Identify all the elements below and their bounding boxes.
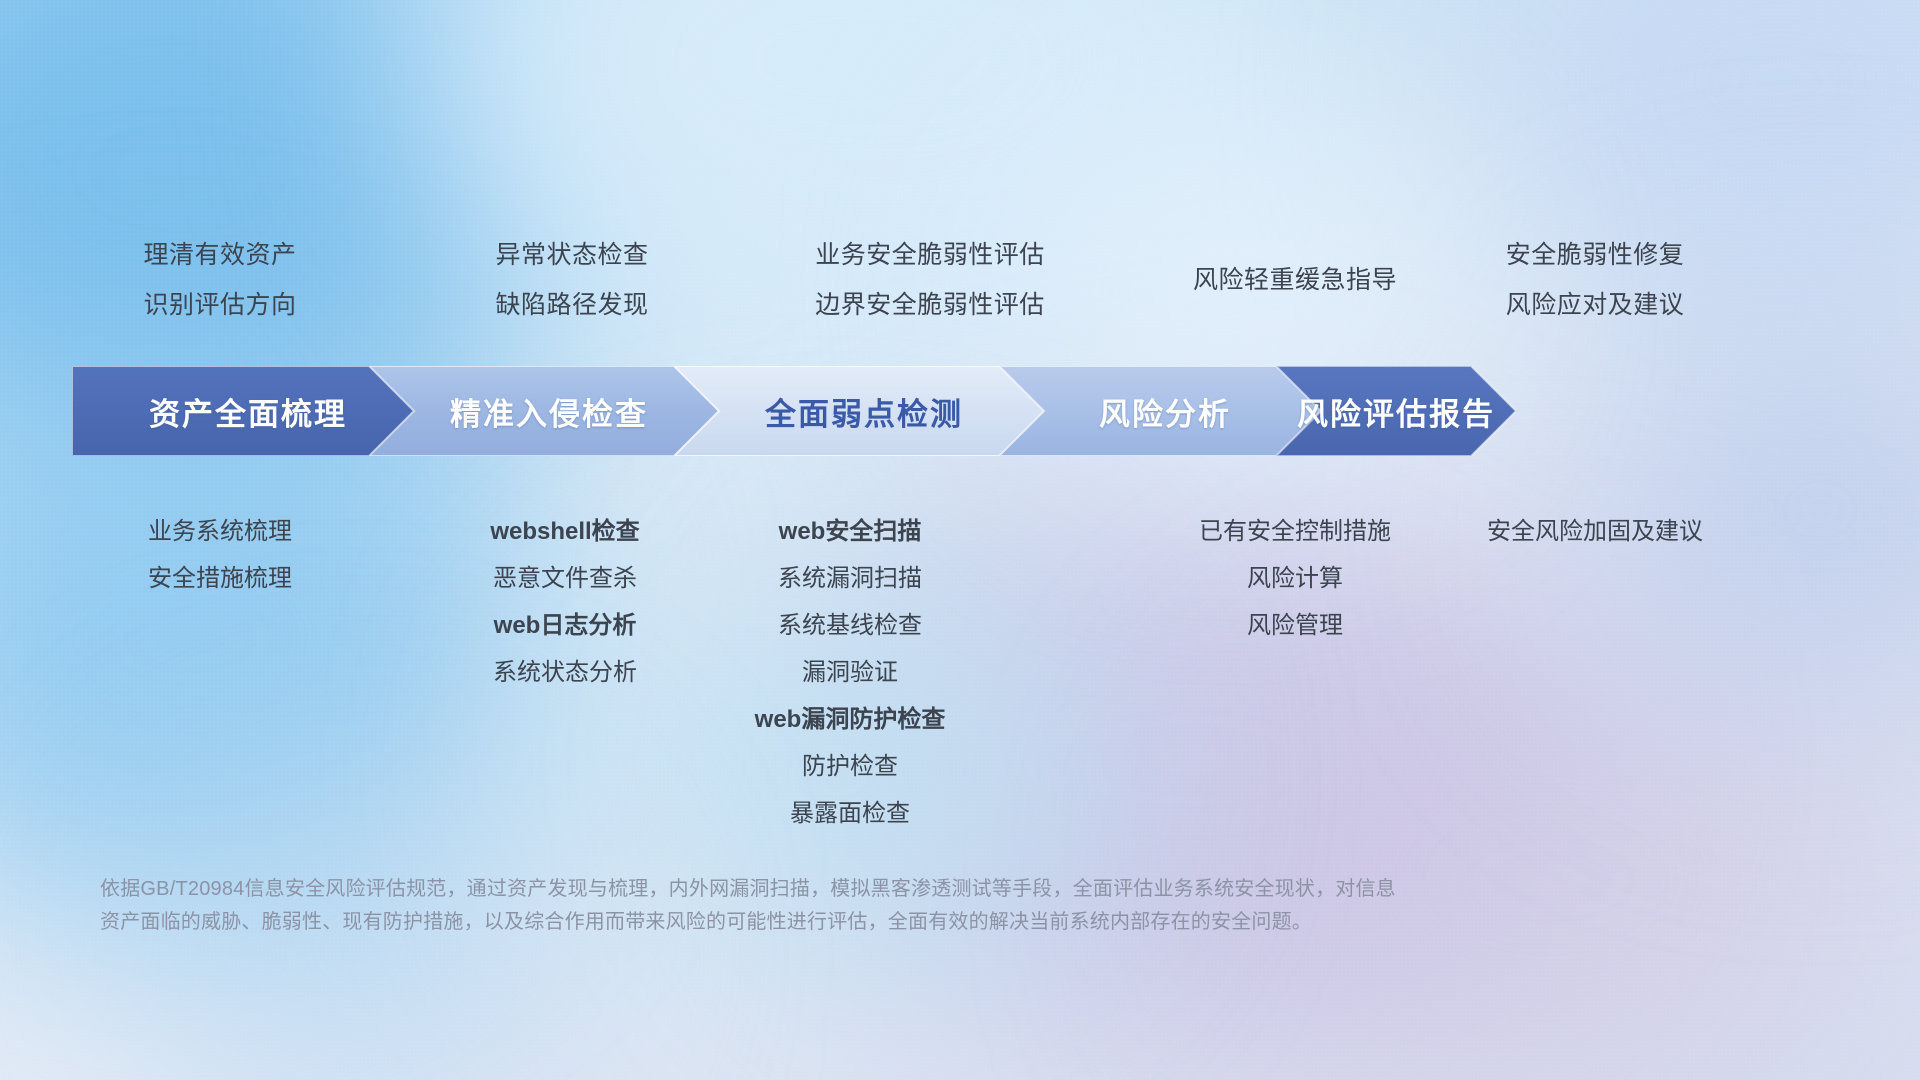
- list-item: 暴露面检查: [640, 790, 1060, 837]
- list-item: 业务系统梳理: [65, 508, 375, 555]
- list-item: 风险管理: [1120, 602, 1470, 649]
- top-caption-item: 缺陷路径发现: [412, 280, 732, 330]
- top-caption-item: 识别评估方向: [60, 280, 380, 330]
- step-bottom-list-weakness-detection: web安全扫描 系统漏洞扫描 系统基线检查 漏洞验证 web漏洞防护检查 防护检…: [640, 508, 1060, 837]
- list-item: web漏洞防护检查: [640, 696, 1060, 743]
- process-step-weakness-detection[interactable]: 全面弱点检测: [674, 366, 1054, 456]
- process-step-label: 全面弱点检测: [765, 389, 963, 434]
- top-caption-item: 安全脆弱性修复: [1395, 230, 1795, 280]
- list-item: 风险计算: [1120, 555, 1470, 602]
- step-bottom-list-risk-report: 安全风险加固及建议: [1375, 508, 1815, 555]
- list-item: 安全风险加固及建议: [1375, 508, 1815, 555]
- top-caption-item: 业务安全脆弱性评估: [740, 230, 1120, 280]
- process-step-label: 资产全面梳理: [149, 389, 347, 434]
- step-top-captions-risk-report: 安全脆弱性修复 风险应对及建议: [1395, 230, 1795, 330]
- step-top-captions-weakness-detection: 业务安全脆弱性评估 边界安全脆弱性评估: [740, 230, 1120, 330]
- list-item: 漏洞验证: [640, 649, 1060, 696]
- list-item: 安全措施梳理: [65, 555, 375, 602]
- process-diagram: 理清有效资产 识别评估方向 异常状态检查 缺陷路径发现 业务安全脆弱性评估 边界…: [0, 0, 1920, 1080]
- process-step-risk-report[interactable]: 风险评估报告: [1276, 366, 1516, 456]
- step-bottom-list-asset-inventory: 业务系统梳理 安全措施梳理: [65, 508, 375, 602]
- process-step-label: 风险评估报告: [1297, 389, 1495, 434]
- list-item: web安全扫描: [640, 508, 1060, 555]
- process-step-label: 风险分析: [1099, 389, 1231, 434]
- top-caption-item: 边界安全脆弱性评估: [740, 280, 1120, 330]
- top-caption-item: 风险应对及建议: [1395, 280, 1795, 330]
- step-top-captions-asset-inventory: 理清有效资产 识别评估方向: [60, 230, 380, 330]
- step-top-captions-intrusion-check: 异常状态检查 缺陷路径发现: [412, 230, 732, 330]
- footer-line: 资产面临的威胁、脆弱性、现有防护措施，以及综合作用而带来风险的可能性进行评估，全…: [100, 906, 1620, 939]
- footer-description: 依据GB/T20984信息安全风险评估规范，通过资产发现与梳理，内外网漏洞扫描，…: [100, 873, 1620, 939]
- process-step-label: 精准入侵检查: [450, 389, 648, 434]
- top-caption-item: 异常状态检查: [412, 230, 732, 280]
- process-step-band: 资产全面梳理 精准入侵检查: [72, 366, 1516, 456]
- list-item: 系统基线检查: [640, 602, 1060, 649]
- list-item: 系统漏洞扫描: [640, 555, 1060, 602]
- list-item: 防护检查: [640, 743, 1060, 790]
- top-caption-item: 理清有效资产: [60, 230, 380, 280]
- footer-line: 依据GB/T20984信息安全风险评估规范，通过资产发现与梳理，内外网漏洞扫描，…: [100, 873, 1620, 906]
